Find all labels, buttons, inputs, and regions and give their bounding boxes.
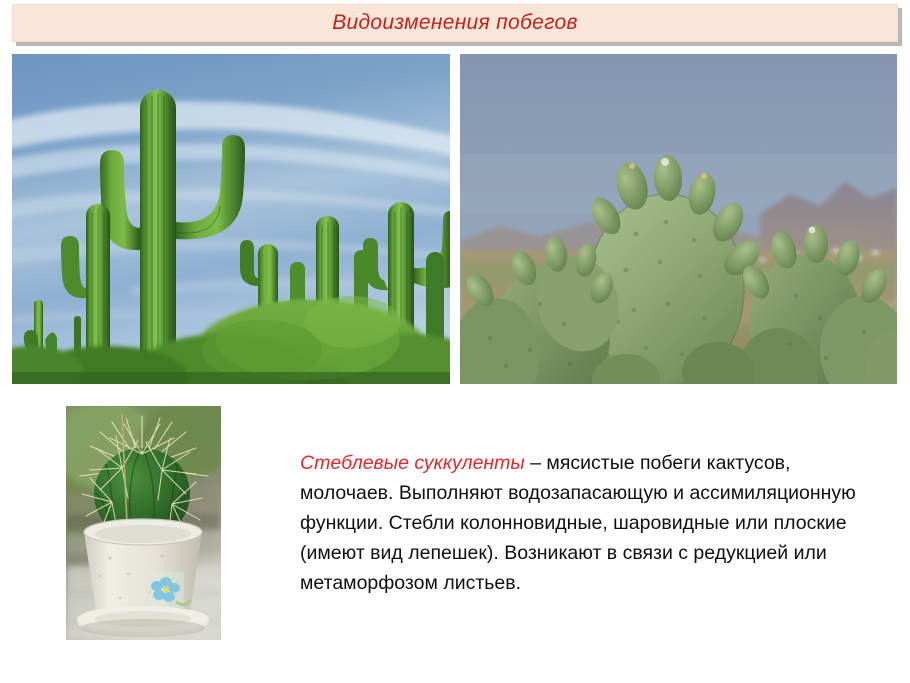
- image-opuntia-cactus: [460, 54, 897, 384]
- page-title: Видоизменения побегов: [332, 11, 578, 35]
- slide-body-text: Стеблевые суккуленты – мясистые побеги к…: [300, 448, 880, 598]
- saguaro-illustration: [12, 54, 450, 384]
- image-potted-cactus: [66, 406, 221, 640]
- image-saguaro-cacti: [12, 54, 450, 384]
- opuntia-illustration: [460, 54, 897, 384]
- potted-cactus-illustration: [66, 406, 221, 640]
- body-lead-term: Стеблевые суккуленты: [300, 452, 525, 474]
- slide-title-bar: Видоизменения побегов: [12, 4, 898, 42]
